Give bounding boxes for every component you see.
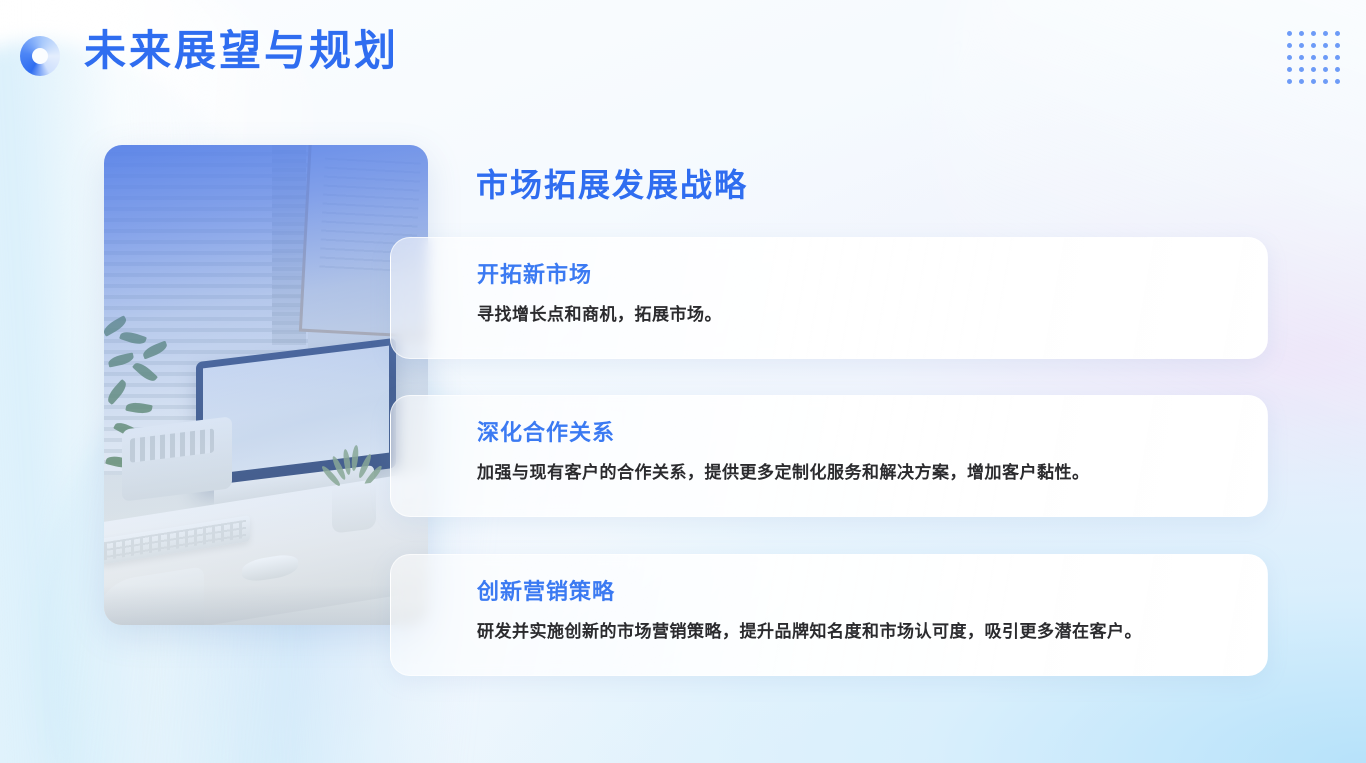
card-title: 开拓新市场: [477, 257, 592, 289]
strategy-card-2[interactable]: 深化合作关系 加强与现有客户的合作关系，提供更多定制化服务和解决方案，增加客户黏…: [390, 395, 1268, 517]
card-title: 创新营销策略: [477, 574, 615, 606]
page-title: 未来展望与规划: [84, 27, 399, 77]
dot-grid-icon: [1284, 28, 1344, 88]
workspace-photo: [104, 145, 428, 625]
card-title: 深化合作关系: [477, 415, 615, 447]
card-description: 加强与现有客户的合作关系，提供更多定制化服务和解决方案，增加客户黏性。: [477, 458, 1090, 483]
photo-tint-blue: [104, 145, 428, 625]
strategy-card-3[interactable]: 创新营销策略 研发并实施创新的市场营销策略，提升品牌知名度和市场认可度，吸引更多…: [390, 554, 1268, 676]
ring-icon: [20, 36, 60, 76]
slide-header: 未来展望与规划: [0, 0, 1366, 108]
slide-root: 未来展望与规划: [0, 0, 1366, 763]
card-description: 研发并实施创新的市场营销策略，提升品牌知名度和市场认可度，吸引更多潜在客户。: [477, 617, 1142, 642]
strategy-card-1[interactable]: 开拓新市场 寻找增长点和商机，拓展市场。: [390, 237, 1268, 359]
card-description: 寻找增长点和商机，拓展市场。: [477, 300, 722, 325]
section-title: 市场拓展发展战略: [476, 160, 748, 206]
